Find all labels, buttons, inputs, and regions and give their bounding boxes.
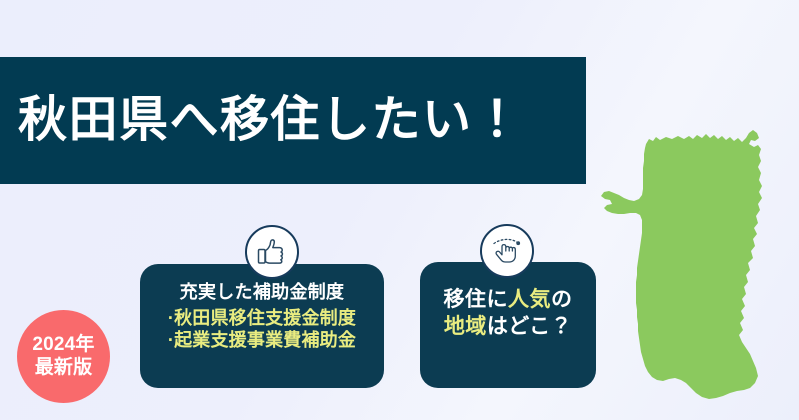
badge-edition-label: 最新版 — [35, 357, 93, 379]
popular-area-question-line-2: 地域はどこ？ — [444, 313, 572, 340]
question-part-highlight: 地域 — [444, 315, 487, 338]
akita-map-shape — [601, 130, 762, 399]
subsidy-bullet-list: ·秋田県移住支援金制度 ·起業支援事業費補助金 — [168, 308, 356, 352]
subsidy-bullet-item: ·起業支援事業費補助金 — [168, 330, 356, 352]
hand-pointing-map-icon — [480, 224, 534, 278]
badge-year-label: 2024年 — [32, 334, 94, 356]
page-title: 秋田県へ移住したい！ — [18, 96, 523, 145]
question-part: 移住に — [444, 288, 509, 311]
akita-prefecture-map — [596, 128, 799, 420]
subsidy-bullet-item: ·秋田県移住支援金制度 — [168, 308, 356, 330]
question-part: はどこ？ — [487, 315, 572, 338]
subsidy-card-heading: 充実した補助金制度 — [180, 282, 345, 303]
latest-edition-badge: 2024年 最新版 — [17, 310, 110, 403]
subsidy-card[interactable]: 充実した補助金制度 ·秋田県移住支援金制度 ·起業支援事業費補助金 — [140, 264, 384, 388]
question-part: の — [551, 288, 573, 311]
thumbs-up-icon — [245, 225, 299, 279]
title-banner: 秋田県へ移住したい！ — [0, 57, 586, 184]
popular-area-question-line-1: 移住に人気の — [444, 286, 573, 313]
popular-area-card[interactable]: 移住に人気の 地域はどこ？ — [420, 262, 596, 388]
poster-canvas: 秋田県へ移住したい！ 充実した補助金制度 ·秋田県移住支援金制度 ·起業支援事業… — [0, 0, 799, 420]
question-part-highlight: 人気 — [508, 288, 551, 311]
